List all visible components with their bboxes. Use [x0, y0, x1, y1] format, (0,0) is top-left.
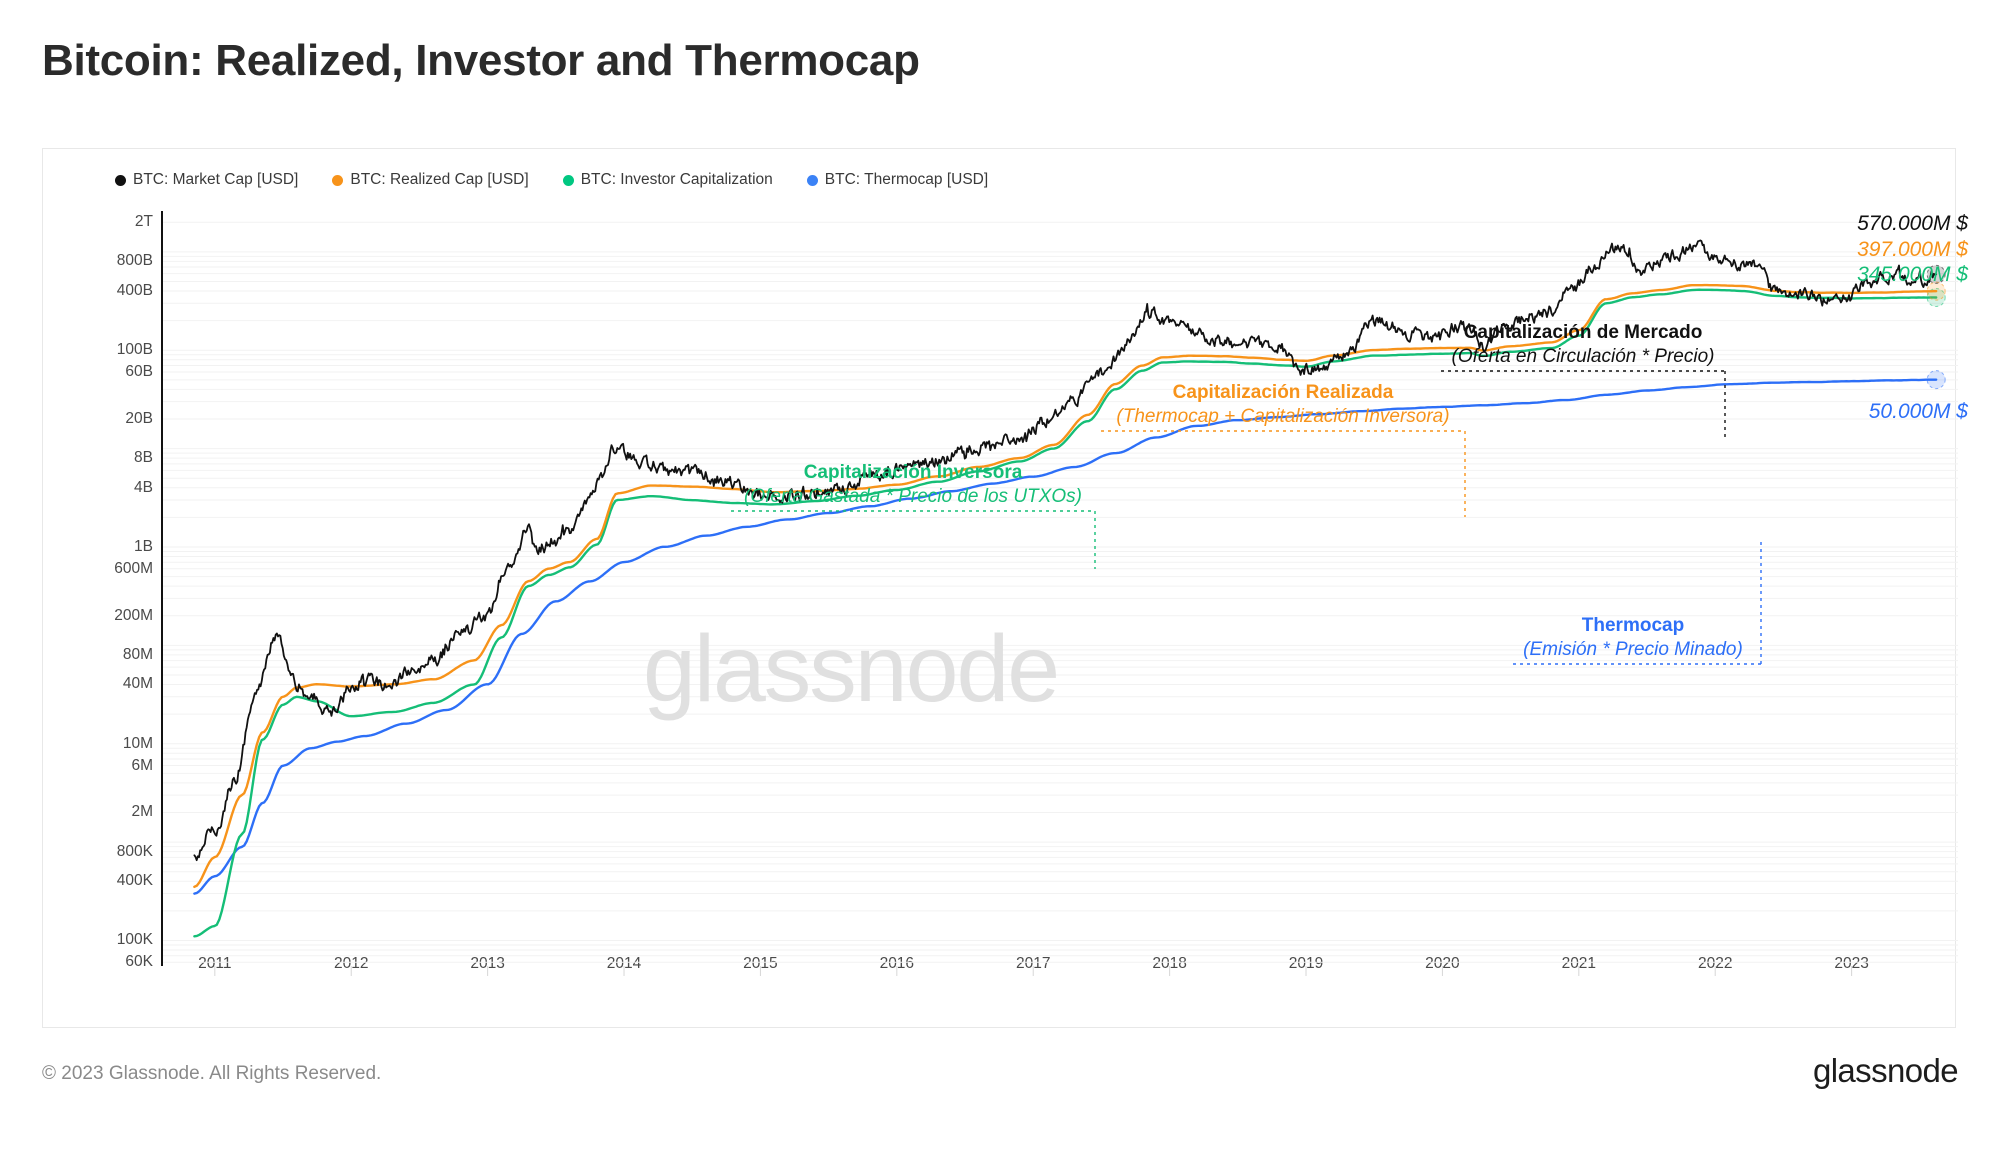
end-label-market-cap: 570.000M $	[1857, 212, 1968, 236]
end-label-investor-cap: 345.000M $	[1857, 263, 1968, 287]
legend-dot-icon	[563, 175, 574, 186]
annotation-investor-cap-title: Capitalización Inversora	[513, 461, 1313, 485]
legend-dot-icon	[332, 175, 343, 186]
series-end-marker-3	[1927, 371, 1945, 389]
legend-item-label: BTC: Investor Capitalization	[581, 171, 773, 189]
chart-card: BTC: Market Cap [USD]BTC: Realized Cap […	[42, 148, 1956, 1028]
annotation-thermocap-subtitle: (Emisión * Precio Minado)	[1233, 638, 2000, 662]
page-title: Bitcoin: Realized, Investor and Thermoca…	[42, 36, 920, 86]
legend-dot-icon	[807, 175, 818, 186]
chart-page: Bitcoin: Realized, Investor and Thermoca…	[0, 0, 2000, 1152]
annotation-market-cap-subtitle: (Oferta en Circulación * Precio)	[1183, 345, 1983, 369]
end-label-thermocap: 50.000M $	[1869, 400, 1968, 424]
annotation-realized-cap: Capitalización Realizada (Thermocap + Ca…	[883, 381, 1683, 430]
annotation-realized-cap-title: Capitalización Realizada	[883, 381, 1683, 405]
annotation-realized-cap-subtitle: (Thermocap + Capitalización Inversora)	[883, 405, 1683, 429]
legend-item-label: BTC: Realized Cap [USD]	[350, 171, 528, 189]
legend-dot-icon	[115, 175, 126, 186]
glassnode-watermark: glassnode	[643, 615, 1058, 724]
legend-item-3[interactable]: BTC: Thermocap [USD]	[807, 171, 988, 189]
annotation-thermocap: Thermocap (Emisión * Precio Minado)	[1233, 614, 2000, 663]
annotation-market-cap: Capitalización de Mercado (Oferta en Cir…	[1183, 321, 1983, 370]
footer-logo: glassnode	[1813, 1052, 1958, 1090]
legend-item-label: BTC: Market Cap [USD]	[133, 171, 298, 189]
end-label-realized-cap: 397.000M $	[1857, 238, 1968, 262]
legend-item-1[interactable]: BTC: Realized Cap [USD]	[332, 171, 528, 189]
annotation-investor-cap: Capitalización Inversora (Oferta Gastada…	[513, 461, 1313, 510]
annotation-investor-cap-subtitle: (Oferta Gastada * Precio de los UTXOs)	[513, 485, 1313, 509]
annotation-market-cap-title: Capitalización de Mercado	[1183, 321, 1983, 345]
footer-copyright: © 2023 Glassnode. All Rights Reserved.	[42, 1063, 381, 1085]
annotation-thermocap-title: Thermocap	[1233, 614, 2000, 638]
chart-legend: BTC: Market Cap [USD]BTC: Realized Cap […	[115, 171, 988, 189]
legend-item-0[interactable]: BTC: Market Cap [USD]	[115, 171, 298, 189]
legend-item-label: BTC: Thermocap [USD]	[825, 171, 988, 189]
legend-item-2[interactable]: BTC: Investor Capitalization	[563, 171, 773, 189]
